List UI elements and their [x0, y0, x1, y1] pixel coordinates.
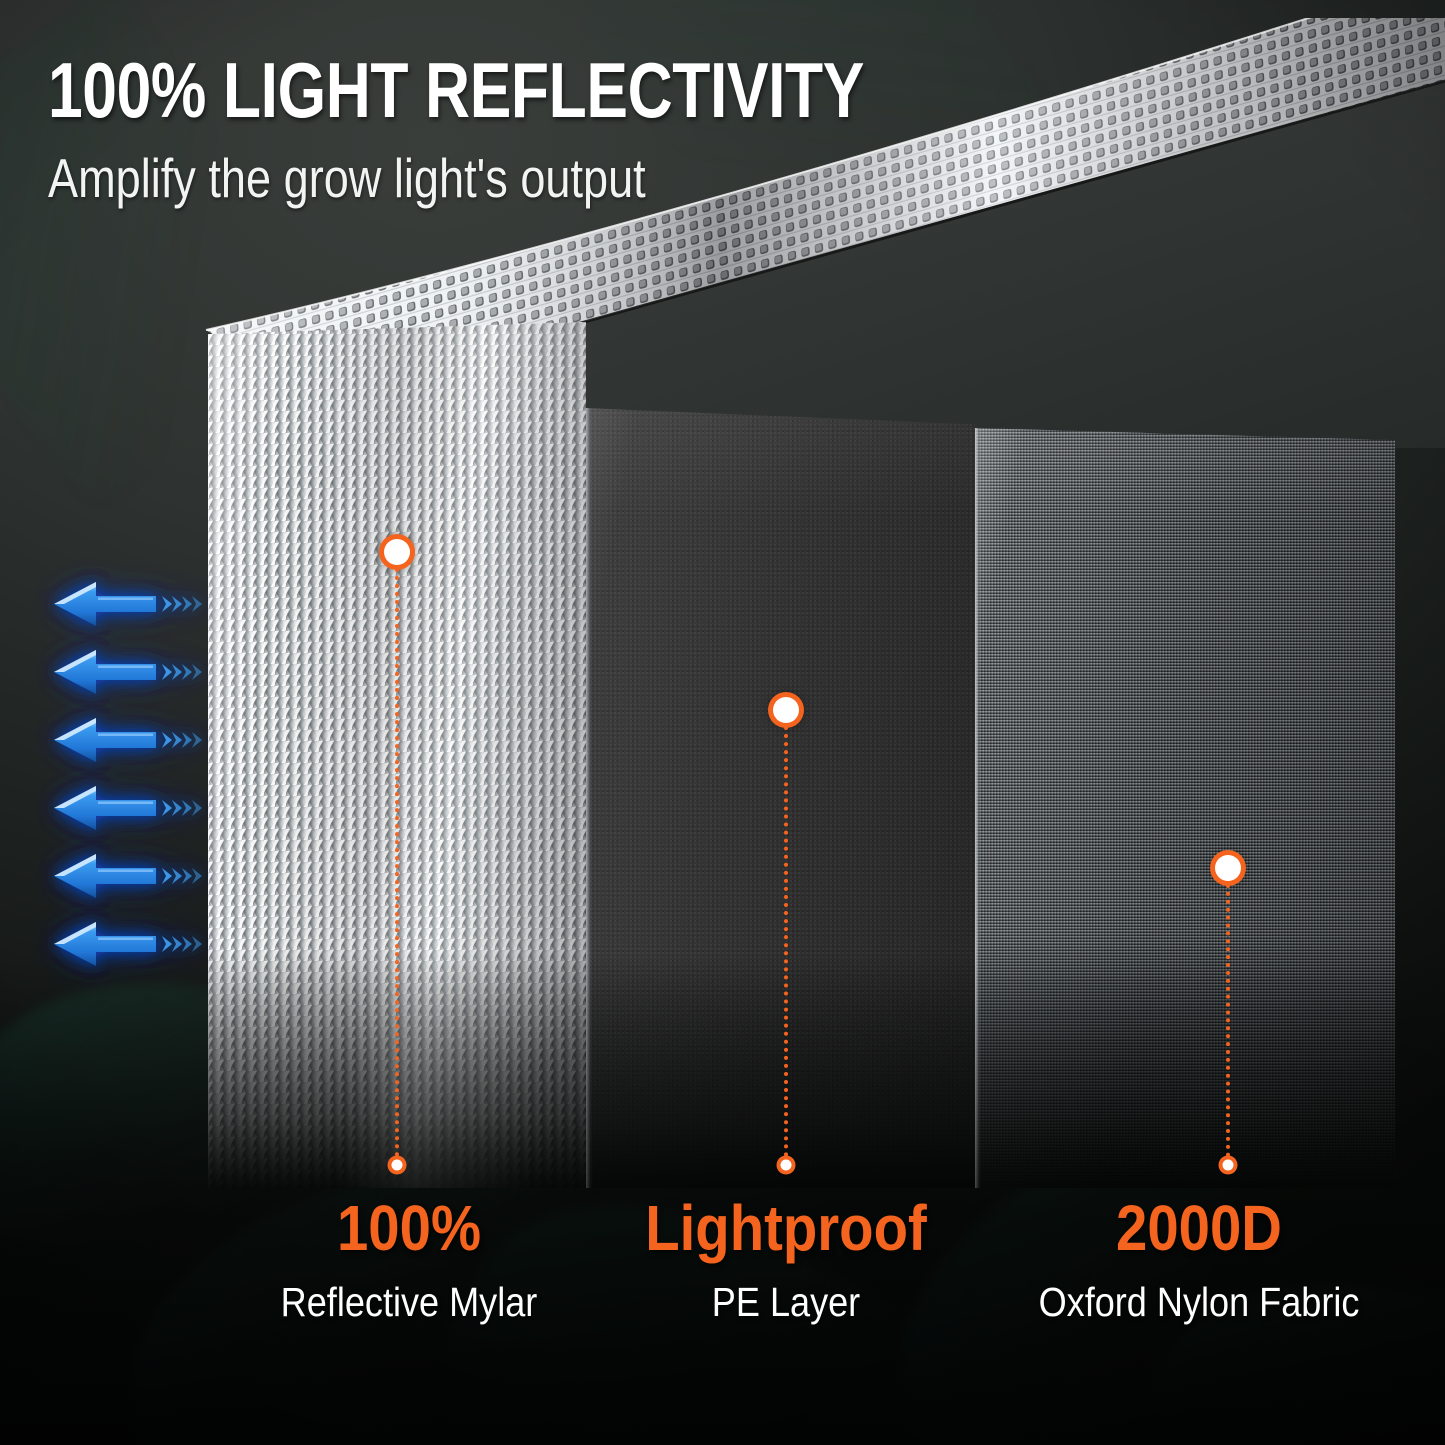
callout-marker-mylar[interactable] [384, 539, 410, 565]
callout-endpoint-oxford [1223, 1160, 1234, 1171]
arrow-left-icon [52, 714, 208, 766]
arrow-left-icon [52, 646, 208, 698]
header: 100% LIGHT REFLECTIVITY Amplify the grow… [48, 52, 1048, 208]
arrow-left-icon [52, 850, 208, 902]
page-title: 100% LIGHT REFLECTIVITY [48, 52, 848, 128]
callout-value-pe: Lightproof [626, 1196, 946, 1260]
callout-endpoint-mylar [392, 1160, 403, 1171]
arrow-left-icon [52, 782, 208, 834]
callout-material-pe: PE Layer [702, 1282, 871, 1323]
callout-marker-pe[interactable] [773, 697, 799, 723]
callout-endpoint-pe [781, 1160, 792, 1171]
callout-marker-oxford[interactable] [1215, 855, 1241, 881]
callout-value-mylar: 100% [327, 1196, 491, 1260]
arrow-left-icon [52, 578, 208, 630]
arrow-left-icon [52, 918, 208, 970]
callout-leader-line-pe [784, 726, 788, 1165]
callout-material-mylar: Reflective Mylar [263, 1282, 555, 1323]
infographic-canvas: 100% LIGHT REFLECTIVITY Amplify the grow… [0, 0, 1445, 1445]
callout-leader-line-mylar [395, 568, 399, 1165]
callout-value-oxford: 2000D [1105, 1196, 1294, 1260]
callout-leader-line-oxford [1226, 884, 1230, 1165]
reflected-light-arrows [52, 578, 212, 978]
page-subtitle: Amplify the grow light's output [48, 150, 868, 208]
callout-material-oxford: Oxford Nylon Fabric [1017, 1282, 1382, 1323]
